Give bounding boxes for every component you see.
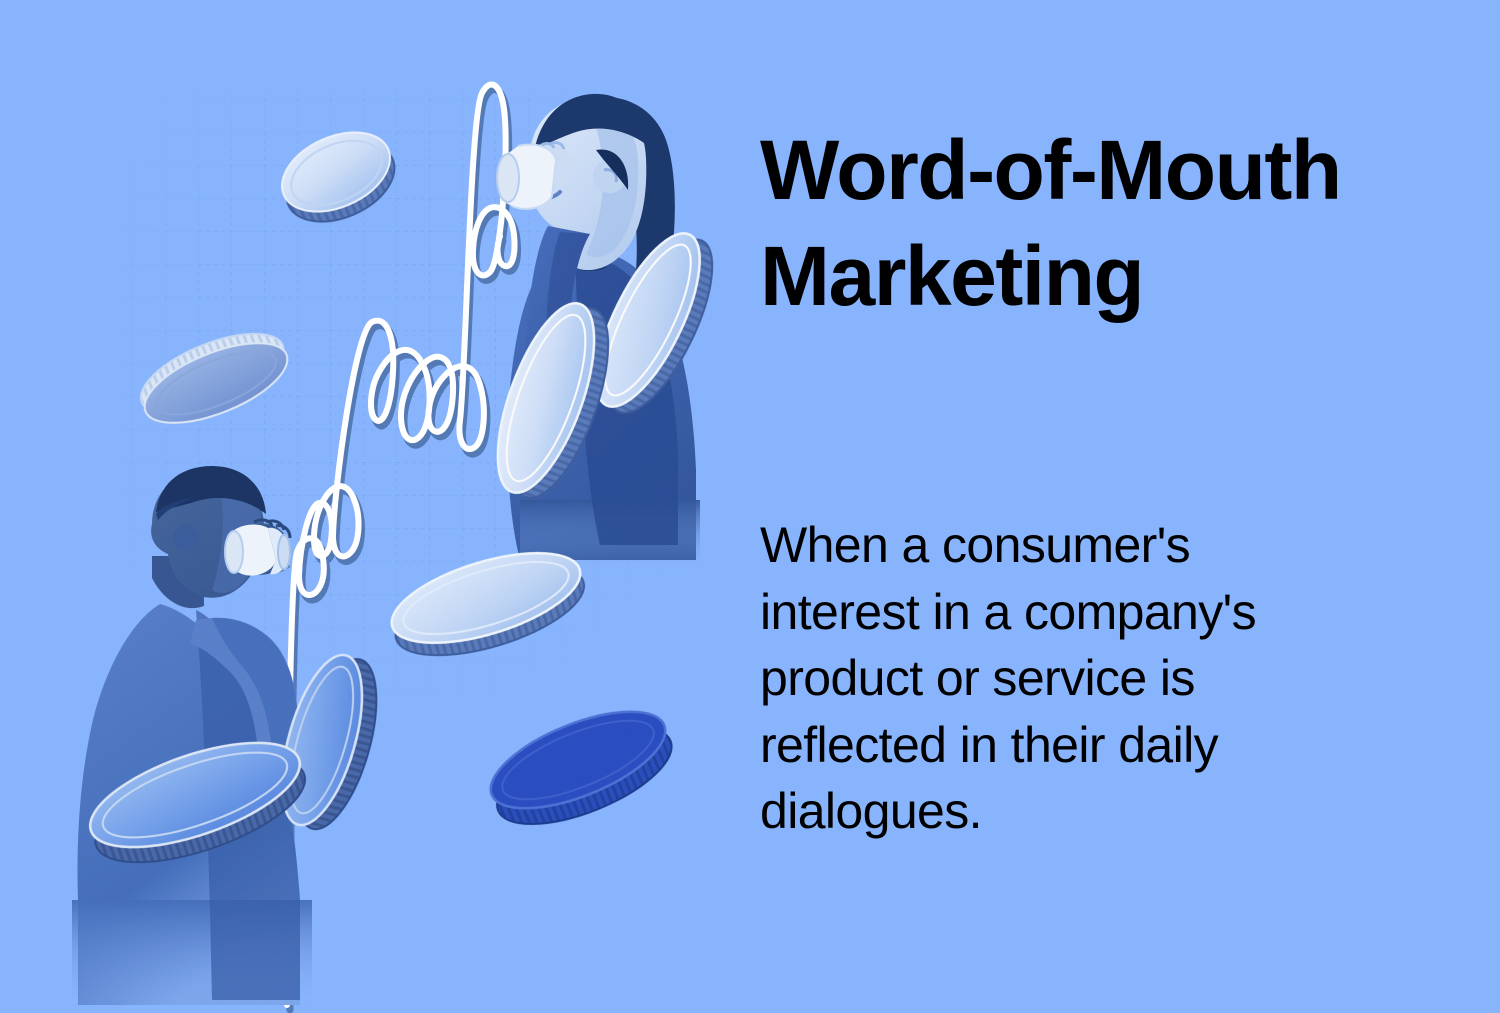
man-ear xyxy=(173,525,199,551)
can-open-end xyxy=(497,154,519,202)
woman-tin-can xyxy=(497,145,556,209)
page-title: Word-of-Mouth Marketing xyxy=(760,118,1420,330)
can-closed-end xyxy=(278,535,290,569)
can-open-end xyxy=(225,531,243,573)
text-column: Word-of-Mouth Marketing When a consumer'… xyxy=(760,0,1460,1013)
poster-canvas: Word-of-Mouth Marketing When a consumer'… xyxy=(0,0,1500,1013)
body-paragraph: When a consumer's interest in a company'… xyxy=(760,512,1360,845)
illustration xyxy=(0,0,740,1013)
man-tin-can xyxy=(225,525,290,576)
